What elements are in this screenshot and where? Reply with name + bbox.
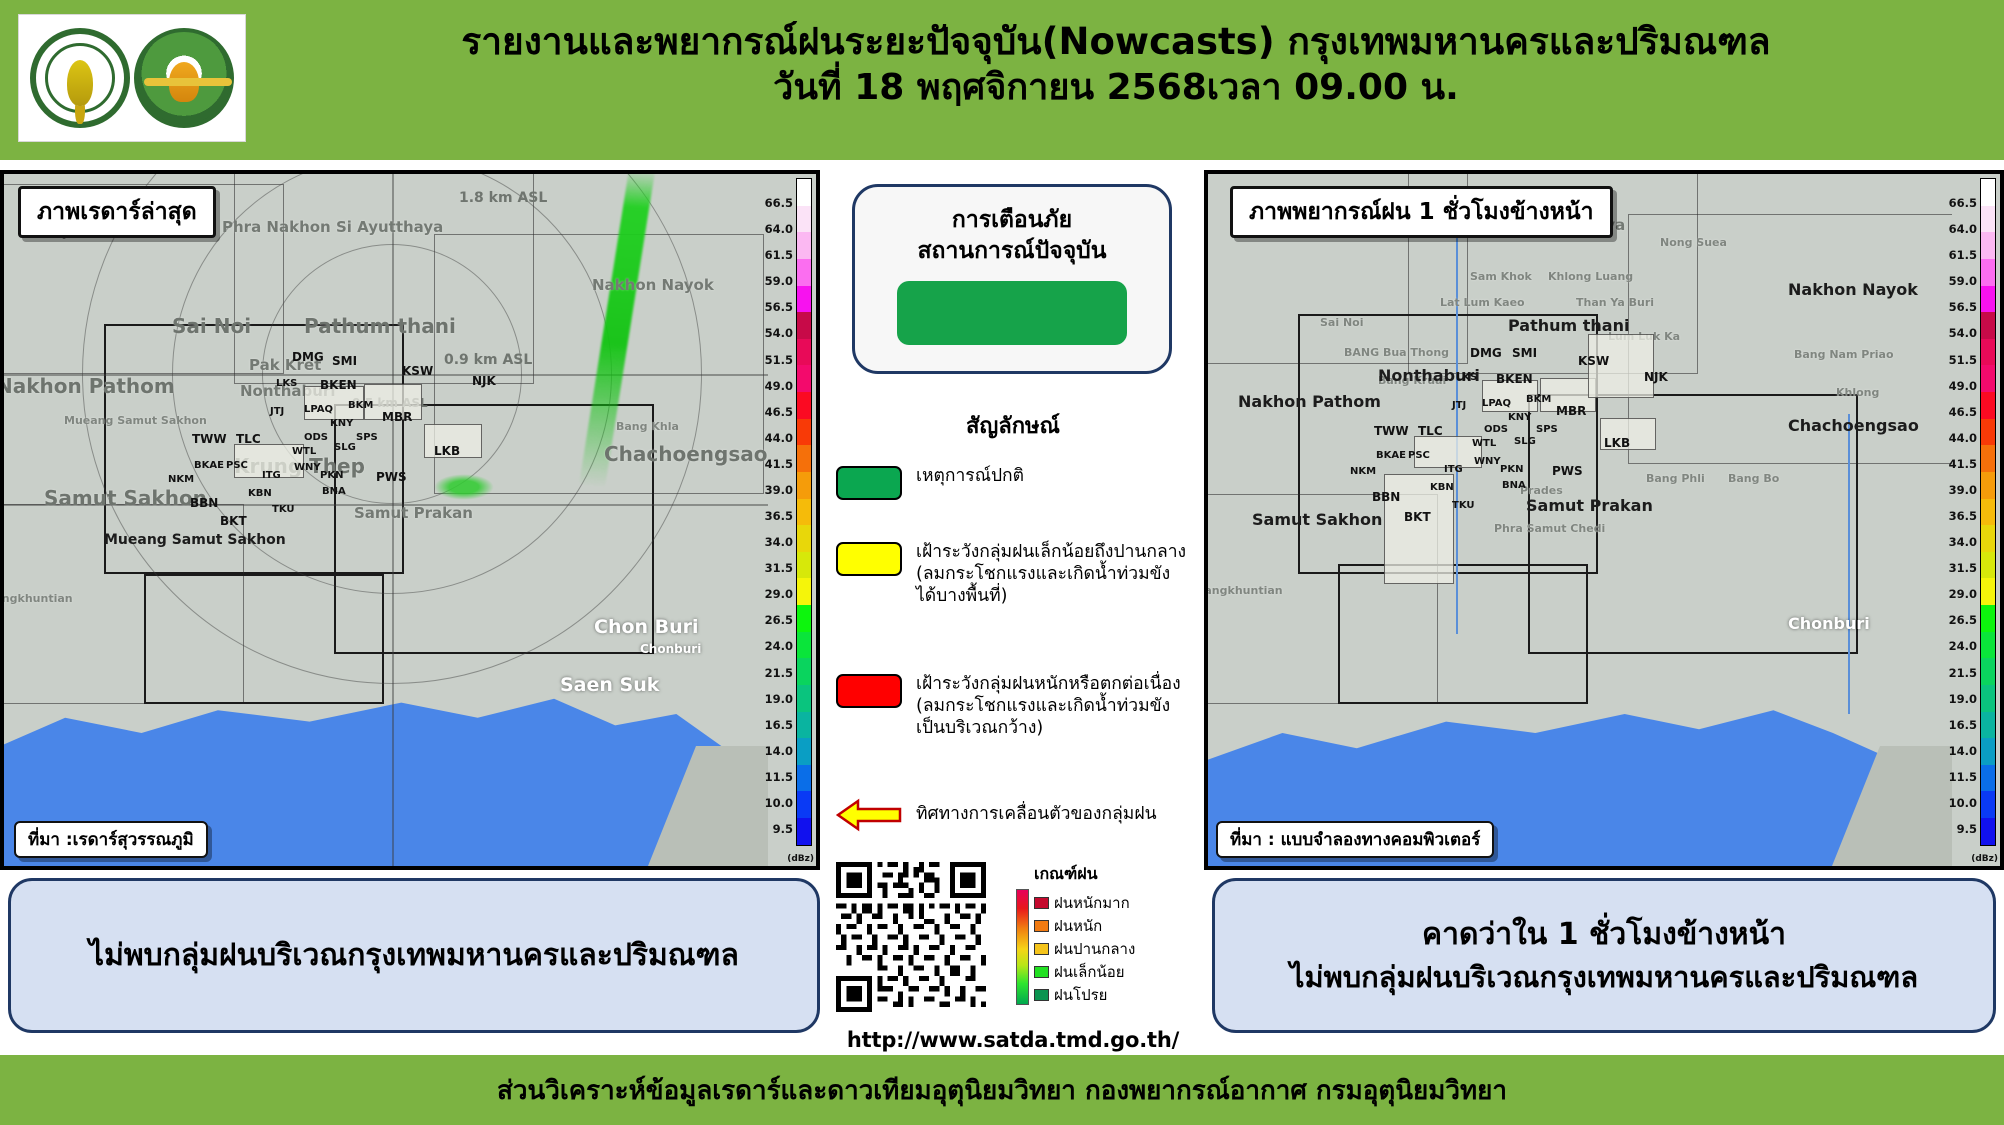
rain-scale-item: ฝนโปรย: [1034, 983, 1107, 1007]
map-label-district: BANG Bua Thong: [1344, 346, 1449, 359]
map-label-province: Samut Prakan: [354, 504, 473, 522]
station-code: BNA: [322, 486, 346, 497]
station-code: ITG: [262, 470, 281, 481]
colorbar-tick-label: 39.0: [765, 483, 793, 497]
colorbar-segment: [797, 365, 811, 392]
map-label-district: Bang Khla: [616, 420, 679, 433]
colorbar-segment: [797, 472, 811, 499]
rain-scale-label: ฝนโปรย: [1054, 983, 1107, 1007]
page-title-line1: รายงานและพยากรณ์ฝนระยะปัจจุบัน(Nowcasts)…: [246, 18, 1986, 65]
rain-scale-chip: [1034, 989, 1049, 1001]
map-label-province: Saen Suk: [560, 674, 659, 696]
rain-scale-body: ฝนหนักมาก ฝนหนัก ฝนปานกลาง ฝนเล็กน้อย: [1004, 889, 1204, 1009]
colorbar-tick-label: 11.5: [1949, 770, 1977, 784]
station-code: BKEN: [1496, 372, 1533, 386]
station-code: WNY: [1474, 456, 1501, 467]
colorbar-tick-label: 56.5: [765, 300, 793, 314]
station-code: BNA: [1502, 480, 1526, 491]
rain-scale-gradient: [1016, 889, 1029, 1005]
colorbar-segment: [1981, 419, 1995, 446]
station-code: PSC: [226, 460, 248, 471]
colorbar-segment: [1981, 765, 1995, 792]
qr-code-icon[interactable]: [836, 862, 986, 1012]
station-code: KBN: [248, 488, 272, 499]
station-code: BKT: [1404, 510, 1431, 524]
alert-title-line1: การเตือนภัย: [952, 205, 1072, 236]
station-code: BBN: [190, 496, 218, 510]
colorbar-segment: [1981, 525, 1995, 552]
radar-colorbar: 66.564.061.559.056.554.051.549.046.544.0…: [768, 174, 816, 866]
forecast-result-line2: ไม่พบกลุ่มฝนบริเวณกรุงเทพมหานครและปริมณฑ…: [1290, 956, 1918, 998]
colorbar-segment: [1981, 365, 1995, 392]
colorbar-segment: [797, 419, 811, 446]
colorbar-segment: [1981, 286, 1995, 313]
forecast-map-panel[interactable]: Suphan Buri Phra Nakhon Si Ayutthaya Non…: [1204, 170, 2004, 870]
map-label-province: Chonburi: [1788, 614, 1870, 633]
legend-label: เฝ้าระวังกลุ่มฝนเล็กน้อยถึงปานกลาง (ลมกร…: [916, 542, 1186, 608]
legend-label: เหตุการณ์ปกติ: [916, 466, 1024, 488]
colorbar-tick-label: 26.5: [765, 613, 793, 627]
colorbar-tick-label: 51.5: [765, 353, 793, 367]
colorbar-tick-label: 14.0: [1949, 744, 1977, 758]
colorbar-segment: [797, 445, 811, 472]
station-code: ODS: [1484, 424, 1508, 435]
map-label-district: Bangkhuntian: [1208, 584, 1283, 597]
station-code: PWS: [1552, 464, 1583, 478]
colorbar-segment: [797, 605, 811, 632]
legend-label: เฝ้าระวังกลุ่มฝนหนักหรือตกต่อเนื่อง (ลมก…: [916, 674, 1181, 740]
current-result-text: ไม่พบกลุ่มฝนบริเวณกรุงเทพมหานครและปริมณฑ…: [89, 934, 739, 978]
right-panel-title: ภาพพยากรณ์ฝน 1 ชั่วโมงข้างหน้า: [1230, 186, 1613, 238]
station-code: SLG: [334, 442, 356, 453]
map-label-district: Mueang Samut Sakhon: [64, 414, 207, 427]
colorbar-segment: [1981, 738, 1995, 765]
colorbar-segment: [1981, 632, 1995, 659]
station-code: NJK: [472, 374, 496, 388]
map-label-province: Nakhon Pathom: [4, 374, 175, 398]
colorbar-tick-label: 16.5: [1949, 718, 1977, 732]
colorbar-tick-label: 46.5: [765, 405, 793, 419]
colorbar-tick-label: 64.0: [1949, 222, 1977, 236]
rain-scale-item: ฝนหนัก: [1034, 914, 1102, 938]
website-url[interactable]: http://www.satda.tmd.go.th/: [828, 1028, 1198, 1052]
legend-item-normal: เหตุการณ์ปกติ: [836, 466, 1198, 500]
right-panel-source: ที่มา : แบบจำลองทางคอมพิวเตอร์: [1216, 821, 1494, 858]
colorbar-tick-label: 36.5: [765, 509, 793, 523]
colorbar-segment: [797, 499, 811, 526]
colorbar-segment: [797, 738, 811, 765]
colorbar-unit: (dBz): [1971, 854, 1998, 864]
page-footer: ส่วนวิเคราะห์ข้อมูลเรดาร์และดาวเทียมอุตุ…: [0, 1055, 2004, 1125]
rain-scale-label: ฝนหนักมาก: [1054, 891, 1130, 915]
map-label-province: Nakhon Nayok: [1788, 280, 1918, 299]
map-label-province: Nakhon Nayok: [592, 276, 714, 294]
colorbar-tick-label: 11.5: [765, 770, 793, 784]
station-code: TKU: [272, 504, 295, 515]
colorbar-gradient: [796, 178, 812, 846]
map-label-province: Chachoengsao: [604, 442, 768, 466]
footer-text: ส่วนวิเคราะห์ข้อมูลเรดาร์และดาวเทียมอุตุ…: [497, 1070, 1507, 1111]
colorbar-segment: [797, 712, 811, 739]
colorbar-segment: [1981, 605, 1995, 632]
radar-map-canvas[interactable]: 1.8 km ASL 0.9 km ASL 0.5 km ASL Suphan …: [4, 174, 768, 866]
station-code: BKM: [348, 400, 373, 411]
station-code: WNY: [294, 462, 321, 473]
colorbar-tick-label: 34.0: [1949, 535, 1977, 549]
colorbar-tick-label: 49.0: [765, 379, 793, 393]
colorbar-tick-label: 39.0: [1949, 483, 1977, 497]
map-label-province: Samut Prakan: [1526, 496, 1653, 515]
colorbar-segment: [797, 392, 811, 419]
station-code: JTJ: [270, 406, 284, 417]
page-title-line2: วันที่ 18 พฤศจิกายน 2568เวลา 09.00 น.: [246, 65, 1986, 111]
station-code: DMG: [1470, 346, 1502, 360]
station-code: KSW: [402, 364, 433, 378]
station-code: LKS: [276, 378, 297, 389]
station-code: ODS: [304, 432, 328, 443]
station-code: SLG: [1514, 436, 1536, 447]
station-code: SMI: [332, 354, 357, 368]
rain-scale-chip: [1034, 897, 1049, 909]
colorbar-tick-label: 31.5: [1949, 561, 1977, 575]
colorbar-segment: [797, 791, 811, 818]
legend-swatch-yellow: [836, 542, 902, 576]
map-label-district: Khlong: [1836, 386, 1879, 399]
colorbar-segment: [797, 525, 811, 552]
colorbar-segment: [1981, 339, 1995, 366]
colorbar-tick-label: 66.5: [765, 196, 793, 210]
colorbar-tick-label: 26.5: [1949, 613, 1977, 627]
station-code: LPAQ: [304, 404, 333, 415]
station-code: WTL: [1472, 438, 1496, 449]
tmd-seal-icon: [134, 28, 234, 128]
forecast-map-canvas[interactable]: Suphan Buri Phra Nakhon Si Ayutthaya Non…: [1208, 174, 1952, 866]
river-line: [1848, 414, 1850, 714]
station-code: BKEN: [320, 378, 357, 392]
legend-heading: สัญลักษณ์: [828, 408, 1198, 443]
legend-item-watch-light: เฝ้าระวังกลุ่มฝนเล็กน้อยถึงปานกลาง (ลมกร…: [836, 542, 1198, 608]
colorbar-tick-label: 24.0: [765, 639, 793, 653]
province-boundary: [1338, 564, 1588, 704]
colorbar-segment: [797, 658, 811, 685]
colorbar-segment: [1981, 472, 1995, 499]
map-label-district: Nong Suea: [1660, 236, 1727, 249]
colorbar-ticks: 66.564.061.559.056.554.051.549.046.544.0…: [1952, 174, 1978, 866]
colorbar-tick-label: 36.5: [1949, 509, 1977, 523]
rain-scale-chip: [1034, 943, 1049, 955]
colorbar-segment: [797, 312, 811, 339]
alert-status-badge: [897, 281, 1127, 345]
legend-label: ทิศทางการเคลื่อนตัวของกลุ่มฝน: [916, 804, 1157, 826]
map-label-district: Bang Nam Priao: [1794, 348, 1894, 361]
station-code: TWW: [192, 432, 227, 446]
colorbar-segment: [797, 179, 811, 206]
station-code: BKAE: [194, 460, 224, 471]
rain-scale-chip: [1034, 920, 1049, 932]
colorbar-tick-label: 19.0: [1949, 692, 1977, 706]
map-label-province: Samut Sakhon: [1252, 510, 1382, 529]
colorbar-segment: [797, 818, 811, 845]
colorbar-tick-label: 56.5: [1949, 300, 1977, 314]
colorbar-tick-label: 54.0: [1949, 326, 1977, 340]
station-code: PSC: [1408, 450, 1430, 461]
station-code: LKB: [434, 444, 460, 458]
colorbar-segment: [797, 286, 811, 313]
rain-intensity-scale: เกณฑ์ฝน ฝนหนักมาก ฝนหนัก ฝนปานกลาง: [1004, 862, 1204, 1009]
legend-column: การเตือนภัย สถานการณ์ปัจจุบัน สัญลักษณ์ …: [828, 170, 1198, 1050]
colorbar-segment: [797, 232, 811, 259]
page-title: รายงานและพยากรณ์ฝนระยะปัจจุบัน(Nowcasts)…: [246, 18, 1986, 111]
colorbar-tick-label: 59.0: [765, 274, 793, 288]
colorbar-tick-label: 61.5: [765, 248, 793, 262]
station-code: PWS: [376, 470, 407, 484]
station-code: TLC: [236, 432, 261, 446]
colorbar-segment: [1981, 312, 1995, 339]
agency-logos: [18, 14, 246, 142]
colorbar-segment: [1981, 179, 1995, 206]
colorbar-segment: [1981, 818, 1995, 845]
legend-item-watch-heavy: เฝ้าระวังกลุ่มฝนหนักหรือตกต่อเนื่อง (ลมก…: [836, 674, 1198, 740]
colorbar-tick-label: 44.0: [765, 431, 793, 445]
map-label-district: Sam Khok: [1470, 270, 1532, 283]
station-code: TWW: [1374, 424, 1409, 438]
colorbar-tick-label: 64.0: [765, 222, 793, 236]
map-label-district: Bang Bo: [1728, 472, 1779, 485]
colorbar-ticks: 66.564.061.559.056.554.051.549.046.544.0…: [768, 174, 794, 866]
forecast-result-line1: คาดว่าใน 1 ชั่วโมงข้างหน้า: [1422, 913, 1786, 957]
colorbar-segment: [1981, 791, 1995, 818]
colorbar-segment: [1981, 259, 1995, 286]
station-code: BBN: [1372, 490, 1400, 504]
altitude-label-2: 0.9 km ASL: [444, 352, 532, 368]
station-code: JTJ: [1452, 400, 1466, 411]
station-code: WTL: [292, 446, 316, 457]
rain-scale-chip: [1034, 966, 1049, 978]
station-code: NKM: [1350, 466, 1376, 477]
map-label-province: Nakhon Pathom: [1238, 392, 1381, 411]
rain-scale-item: ฝนเล็กน้อย: [1034, 960, 1125, 984]
colorbar-unit: (dBz): [787, 854, 814, 864]
map-label-province: Samut Sakhon: [44, 486, 207, 510]
colorbar-tick-label: 29.0: [765, 587, 793, 601]
station-code: KNY: [1508, 412, 1531, 423]
altitude-label-1: 1.8 km ASL: [459, 190, 547, 206]
rain-scale-label: ฝนเล็กน้อย: [1054, 960, 1125, 984]
rain-scale-label: ฝนหนัก: [1054, 914, 1102, 938]
forecast-result-box: คาดว่าใน 1 ชั่วโมงข้างหน้า ไม่พบกลุ่มฝนบ…: [1212, 878, 1996, 1033]
colorbar-segment: [797, 206, 811, 233]
colorbar-tick-label: 61.5: [1949, 248, 1977, 262]
colorbar-tick-label: 14.0: [765, 744, 793, 758]
colorbar-tick-label: 46.5: [1949, 405, 1977, 419]
colorbar-segment: [1981, 578, 1995, 605]
map-label-district: Phra Samut Chedi: [1494, 522, 1605, 535]
colorbar-tick-label: 41.5: [765, 457, 793, 471]
station-code: ITG: [1444, 464, 1463, 475]
station-code: DMG: [292, 350, 324, 364]
station-code: BKM: [1526, 394, 1551, 405]
rain-scale-item: ฝนหนักมาก: [1034, 891, 1130, 915]
colorbar-segment: [797, 685, 811, 712]
colorbar-segment: [797, 552, 811, 579]
map-label-district: Bang Phli: [1646, 472, 1705, 485]
colorbar-segment: [797, 765, 811, 792]
station-code: MBR: [1556, 404, 1586, 418]
map-label-province: Chachoengsao: [1788, 416, 1919, 435]
colorbar-tick-label: 29.0: [1949, 587, 1977, 601]
map-label-province: Phra Nakhon Si Ayutthaya: [222, 218, 443, 236]
map-label-province: Mueang Samut Sakhon: [104, 532, 286, 548]
colorbar-tick-label: 44.0: [1949, 431, 1977, 445]
map-label-district: Than Ya Buri: [1576, 296, 1654, 309]
colorbar-tick-label: 21.5: [1949, 666, 1977, 680]
colorbar-segment: [1981, 499, 1995, 526]
station-code: MBR: [382, 410, 412, 424]
colorbar-gradient: [1980, 178, 1996, 846]
current-result-box: ไม่พบกลุ่มฝนบริเวณกรุงเทพมหานครและปริมณฑ…: [8, 878, 820, 1033]
map-label-province: Pathum thani: [304, 314, 456, 338]
colorbar-tick-label: 9.5: [773, 822, 793, 836]
colorbar-segment: [1981, 445, 1995, 472]
river-line: [1456, 234, 1458, 634]
rain-scale-item: ฝนปานกลาง: [1034, 937, 1135, 961]
station-code: SMI: [1512, 346, 1537, 360]
station-code: SPS: [1536, 424, 1558, 435]
colorbar-tick-label: 19.0: [765, 692, 793, 706]
station-code: KSW: [1578, 354, 1609, 368]
map-label-province: Sai Noi: [172, 314, 251, 338]
colorbar-segment: [797, 259, 811, 286]
map-label-district: Khlong Luang: [1548, 270, 1633, 283]
colorbar-segment: [797, 339, 811, 366]
map-label-province: Chon Buri: [594, 616, 699, 638]
station-code: BKAE: [1376, 450, 1406, 461]
station-code: SPS: [356, 432, 378, 443]
colorbar-tick-label: 31.5: [765, 561, 793, 575]
colorbar-tick-label: 34.0: [765, 535, 793, 549]
page-header: รายงานและพยากรณ์ฝนระยะปัจจุบัน(Nowcasts)…: [0, 0, 2004, 160]
colorbar-segment: [1981, 232, 1995, 259]
alert-title-line2: สถานการณ์ปัจจุบัน: [917, 236, 1106, 267]
colorbar-tick-label: 51.5: [1949, 353, 1977, 367]
colorbar-segment: [1981, 552, 1995, 579]
rain-scale-title: เกณฑ์ฝน: [1034, 862, 1204, 887]
colorbar-segment: [1981, 685, 1995, 712]
station-code: TKU: [1452, 500, 1475, 511]
map-label-district: Lat Lum Kaeo: [1440, 296, 1525, 309]
radar-echo: [434, 474, 494, 500]
colorbar-tick-label: 66.5: [1949, 196, 1977, 210]
station-code: BKT: [220, 514, 247, 528]
station-code: NJK: [1644, 370, 1668, 384]
legend-item-movement-arrow: ทิศทางการเคลื่อนตัวของกลุ่มฝน: [836, 798, 1198, 832]
colorbar-tick-label: 10.0: [1949, 796, 1977, 810]
station-code: LPAQ: [1482, 398, 1511, 409]
colorbar-segment: [1981, 392, 1995, 419]
colorbar-tick-label: 16.5: [765, 718, 793, 732]
map-label-district: Prades: [1520, 484, 1563, 497]
station-code: KBN: [1430, 482, 1454, 493]
legend-swatch-green: [836, 466, 902, 500]
station-code: NKM: [168, 474, 194, 485]
forecast-colorbar: 66.564.061.559.056.554.051.549.046.544.0…: [1952, 174, 2000, 866]
radar-map-panel[interactable]: 1.8 km ASL 0.9 km ASL 0.5 km ASL Suphan …: [0, 170, 820, 870]
rain-scale-label: ฝนปานกลาง: [1054, 937, 1135, 961]
colorbar-segment: [797, 578, 811, 605]
station-code: KNY: [330, 418, 353, 429]
movement-arrow-icon: [836, 798, 902, 832]
colorbar-tick-label: 54.0: [765, 326, 793, 340]
station-code: TLC: [1418, 424, 1443, 438]
colorbar-tick-label: 10.0: [765, 796, 793, 810]
colorbar-tick-label: 49.0: [1949, 379, 1977, 393]
colorbar-segment: [1981, 658, 1995, 685]
map-label-district: Sai Noi: [1320, 316, 1363, 329]
content-area: 1.8 km ASL 0.9 km ASL 0.5 km ASL Suphan …: [0, 160, 2004, 1055]
colorbar-segment: [1981, 206, 1995, 233]
station-code: PKN: [1500, 464, 1523, 475]
current-alert-card: การเตือนภัย สถานการณ์ปัจจุบัน: [852, 184, 1172, 374]
station-code: LKS: [1456, 372, 1477, 383]
colorbar-tick-label: 59.0: [1949, 274, 1977, 288]
colorbar-tick-label: 9.5: [1957, 822, 1977, 836]
colorbar-tick-label: 41.5: [1949, 457, 1977, 471]
qr-and-rain-scale: เกณฑ์ฝน ฝนหนักมาก ฝนหนัก ฝนปานกลาง: [836, 862, 1198, 1012]
royal-seal-icon: [30, 28, 130, 128]
colorbar-tick-label: 24.0: [1949, 639, 1977, 653]
station-code: PKN: [320, 470, 343, 481]
map-label-district: Bangkhuntian: [4, 592, 73, 605]
colorbar-segment: [1981, 712, 1995, 739]
left-panel-title: ภาพเรดาร์ล่าสุด: [18, 186, 216, 238]
left-panel-source: ที่มา :เรดาร์สุวรรณภูมิ: [14, 821, 208, 858]
colorbar-tick-label: 21.5: [765, 666, 793, 680]
station-code: LKB: [1604, 436, 1630, 450]
map-label-province: Chonburi: [640, 642, 701, 656]
colorbar-segment: [797, 632, 811, 659]
legend-swatch-red: [836, 674, 902, 708]
